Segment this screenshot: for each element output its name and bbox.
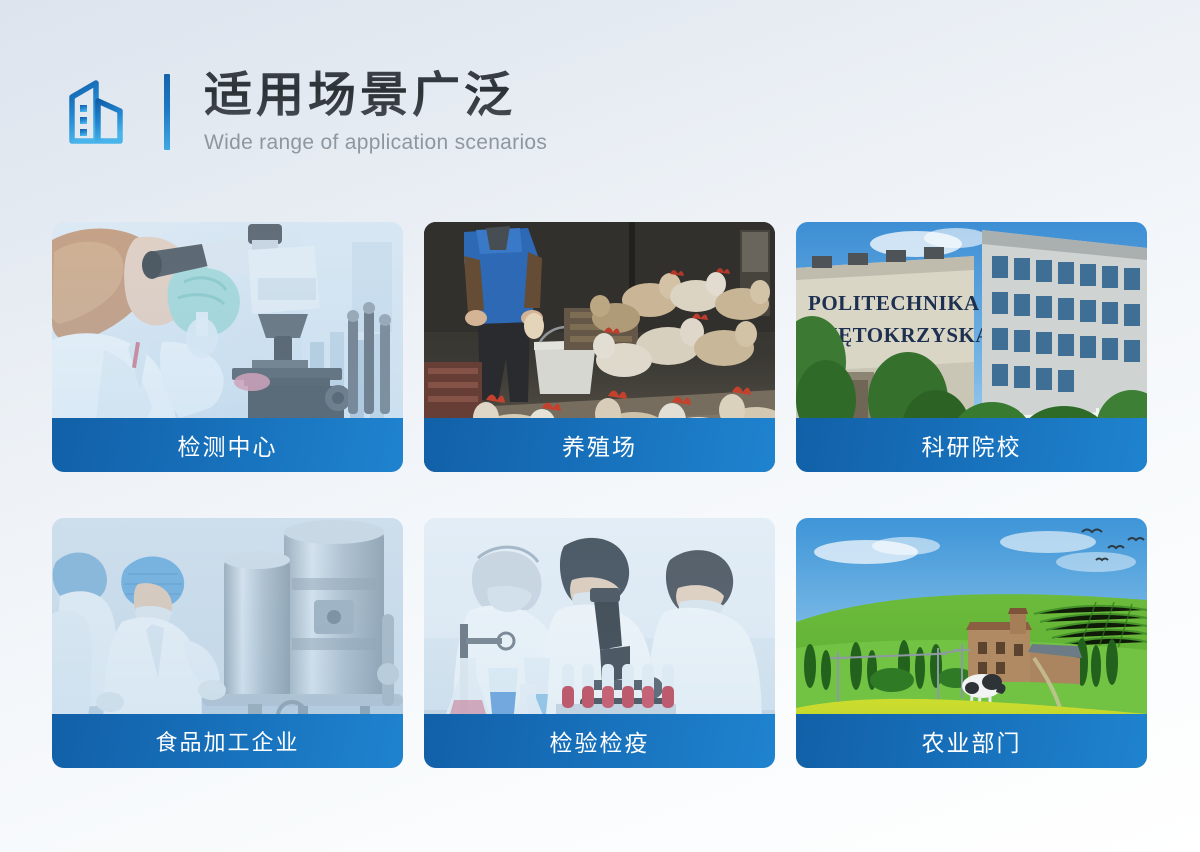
building-sign-line1: POLITECHNIKA [808,291,980,315]
card-label: 检验检疫 [424,714,775,768]
card-label: 农业部门 [796,714,1147,768]
title-accent-divider [164,74,170,150]
scenario-card-poultry-farm[interactable]: 养殖场 [424,222,775,472]
card-label: 检测中心 [52,418,403,472]
card-label: 食品加工企业 [52,714,403,768]
card-label: 科研院校 [796,418,1147,472]
page-header: 适用场景广泛 Wide range of application scenari… [62,62,547,162]
page-title: 适用场景广泛 [204,69,547,123]
building-icon [62,75,136,149]
scenario-card-agriculture-department[interactable]: 农业部门 [796,518,1147,768]
scenario-card-grid: 检测中心 [52,222,1148,768]
page-subtitle: Wide range of application scenarios [204,131,547,155]
scenario-card-research-institute[interactable]: POLITECHNIKA WIĘTOKRZYSKA [796,222,1147,472]
scenario-card-food-processing[interactable]: 食品加工企业 [52,518,403,768]
scenario-card-inspection-quarantine[interactable]: 检验检疫 [424,518,775,768]
scenario-card-detection-center[interactable]: 检测中心 [52,222,403,472]
header-titles: 适用场景广泛 Wide range of application scenari… [204,69,547,155]
card-label: 养殖场 [424,418,775,472]
